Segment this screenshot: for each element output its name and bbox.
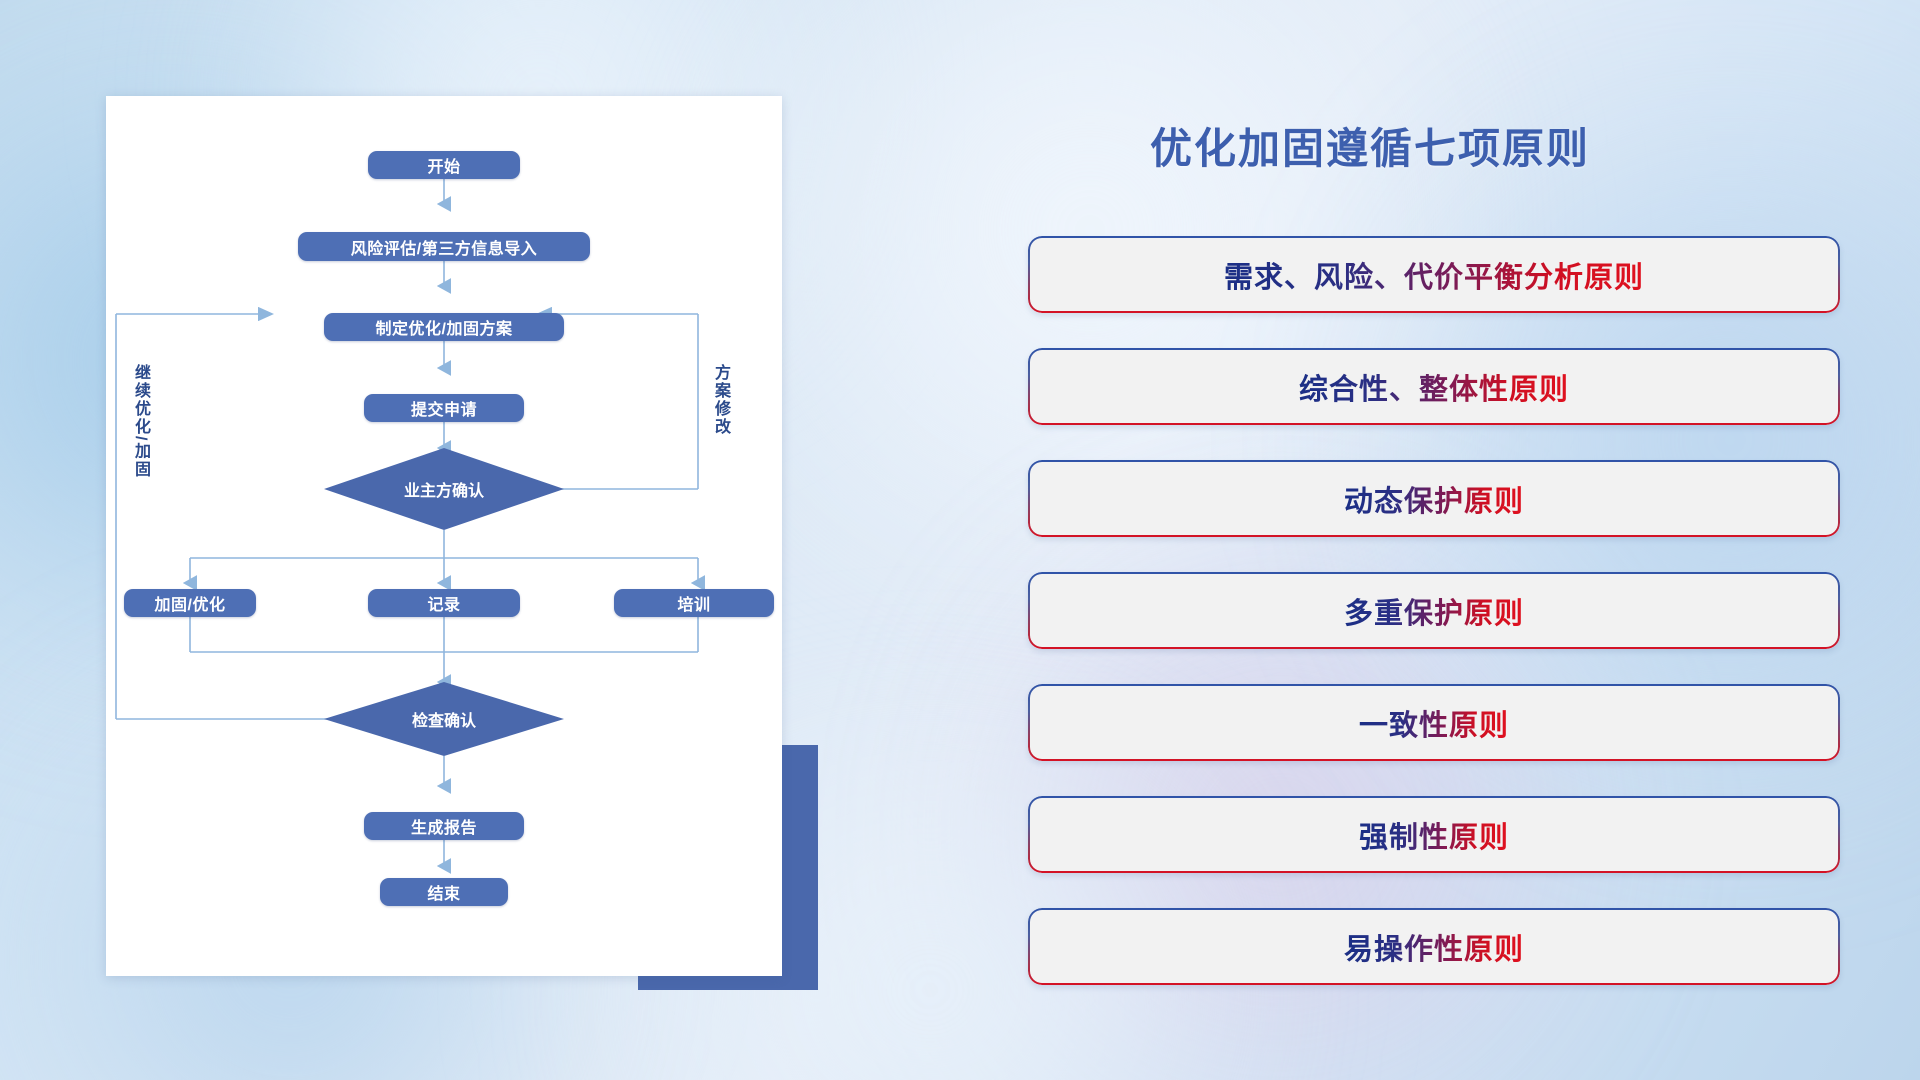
principles-panel: 优化加固遵循七项原则 需求、风险、代价平衡分析原则 综合性、整体性原则 动态保护… xyxy=(1000,0,1920,1080)
flow-node-label: 记录 xyxy=(427,591,460,615)
flow-node-label: 业主方确认 xyxy=(404,477,484,501)
flow-node-submit-application[interactable]: 提交申请 xyxy=(364,394,524,422)
edge-label-continue-optimize: 继续优化/加固 xyxy=(128,364,152,478)
principle-card-label: 强制性原则 xyxy=(1359,814,1509,856)
principle-card-1[interactable]: 需求、风险、代价平衡分析原则 xyxy=(1028,236,1840,313)
principle-card-label: 一致性原则 xyxy=(1359,702,1509,744)
flow-node-end[interactable]: 结束 xyxy=(380,878,508,906)
principle-card-label: 需求、风险、代价平衡分析原则 xyxy=(1224,254,1644,296)
principle-card-5[interactable]: 一致性原则 xyxy=(1028,684,1840,761)
flow-node-plan[interactable]: 制定优化/加固方案 xyxy=(324,313,564,341)
principle-card-3[interactable]: 动态保护原则 xyxy=(1028,460,1840,537)
principle-card-label: 动态保护原则 xyxy=(1344,478,1524,520)
edge-label-plan-revision: 方案修改 xyxy=(708,364,732,436)
flow-node-risk-assessment[interactable]: 风险评估/第三方信息导入 xyxy=(298,232,590,261)
flow-node-label: 提交申请 xyxy=(411,396,477,420)
edge-label-text: 方案修改 xyxy=(712,364,729,436)
flow-node-generate-report[interactable]: 生成报告 xyxy=(364,812,524,840)
flow-node-reinforce-optimize[interactable]: 加固/优化 xyxy=(124,589,256,617)
page-title: 优化加固遵循七项原则 xyxy=(1150,115,1590,176)
principle-card-label: 多重保护原则 xyxy=(1344,590,1524,632)
flowchart-panel: 开始 风险评估/第三方信息导入 制定优化/加固方案 提交申请 业主方确认 加固/… xyxy=(0,0,860,1080)
principle-card-label: 综合性、整体性原则 xyxy=(1299,366,1569,408)
flowchart-inner: 开始 风险评估/第三方信息导入 制定优化/加固方案 提交申请 业主方确认 加固/… xyxy=(106,96,782,976)
flowchart-connectors xyxy=(106,96,782,976)
flow-node-label: 加固/优化 xyxy=(155,591,226,615)
flow-node-label: 检查确认 xyxy=(412,707,476,731)
edge-label-text: 继续优化/加固 xyxy=(132,364,149,478)
principle-card-7[interactable]: 易操作性原则 xyxy=(1028,908,1840,985)
flow-node-training[interactable]: 培训 xyxy=(614,589,774,617)
flow-node-label: 制定优化/加固方案 xyxy=(376,315,513,339)
principle-card-2[interactable]: 综合性、整体性原则 xyxy=(1028,348,1840,425)
principle-card-4[interactable]: 多重保护原则 xyxy=(1028,572,1840,649)
flow-node-record[interactable]: 记录 xyxy=(368,589,520,617)
flow-node-label: 生成报告 xyxy=(411,814,477,838)
flow-node-label: 风险评估/第三方信息导入 xyxy=(351,235,537,259)
principles-card-list: 需求、风险、代价平衡分析原则 综合性、整体性原则 动态保护原则 多重保护原则 一… xyxy=(1028,236,1840,1020)
principle-card-6[interactable]: 强制性原则 xyxy=(1028,796,1840,873)
flow-node-label: 开始 xyxy=(427,153,460,177)
flowchart-canvas: 开始 风险评估/第三方信息导入 制定优化/加固方案 提交申请 业主方确认 加固/… xyxy=(106,96,782,976)
flow-node-label: 结束 xyxy=(427,880,460,904)
flow-node-start[interactable]: 开始 xyxy=(368,151,520,179)
principle-card-label: 易操作性原则 xyxy=(1344,926,1524,968)
flow-node-label: 培训 xyxy=(677,591,710,615)
